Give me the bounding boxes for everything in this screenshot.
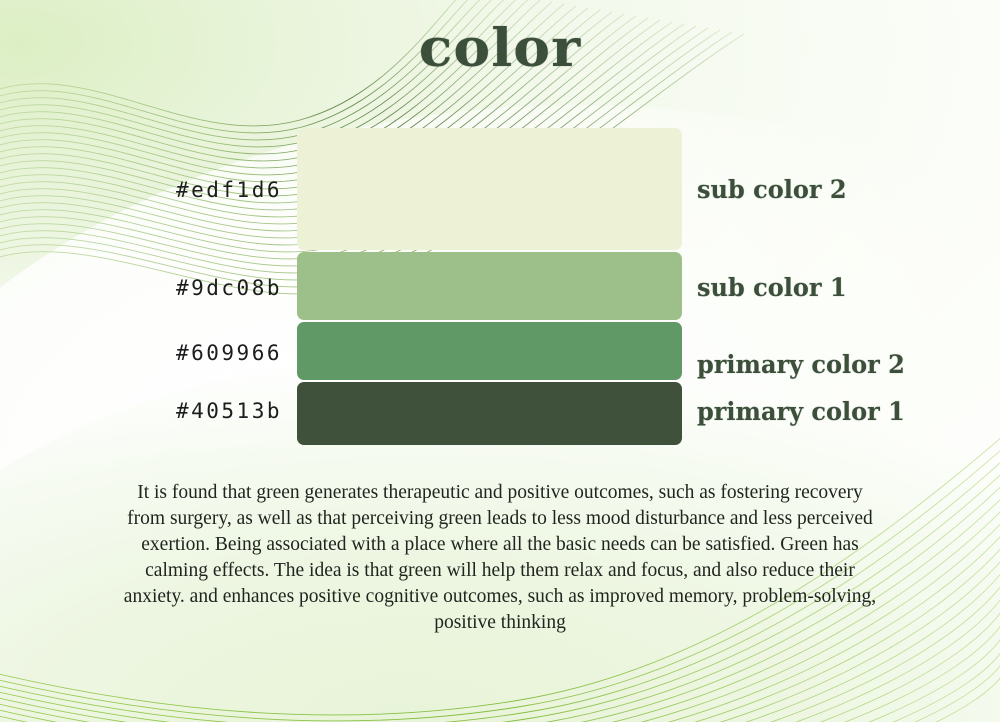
page-title: color [0,18,1000,79]
palette-swatch-stack [297,128,682,447]
hex-label-sub-color-1: #9dc08b [22,276,282,300]
swatch-primary-color-2 [297,322,682,380]
slide-canvas: color #edf1d6 #9dc08b #609966 #40513b su… [0,0,1000,722]
role-label-sub-color-1: sub color 1 [697,273,847,302]
swatch-sub-color-1 [297,252,682,320]
role-label-primary-color-1: primary color 1 [697,397,905,426]
hex-label-primary-color-1: #40513b [22,399,282,423]
hex-label-sub-color-2: #edf1d6 [22,178,282,202]
hex-label-primary-color-2: #609966 [22,341,282,365]
swatch-sub-color-2 [297,128,682,250]
role-label-sub-color-2: sub color 2 [697,175,847,204]
role-label-primary-color-2: primary color 2 [697,350,905,379]
body-paragraph: It is found that green generates therape… [120,480,880,636]
swatch-primary-color-1 [297,382,682,445]
